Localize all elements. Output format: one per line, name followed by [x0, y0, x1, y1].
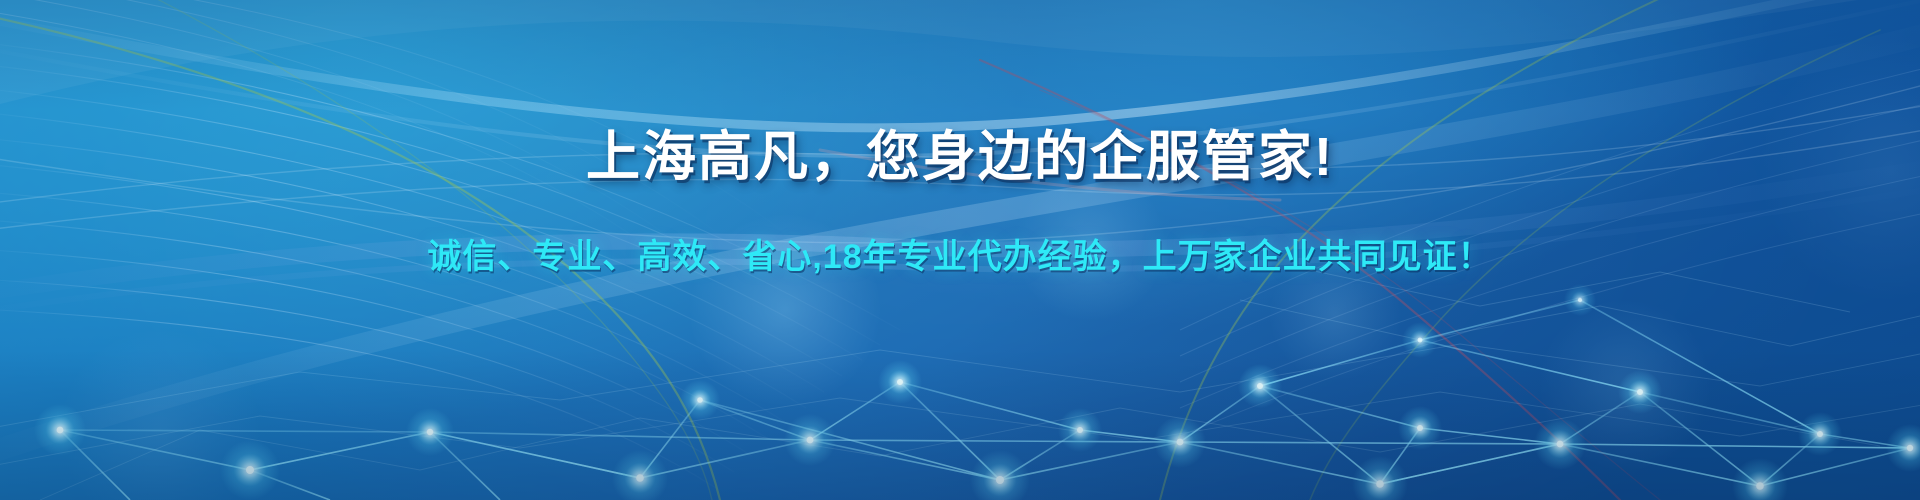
- banner-headline: 上海高凡，您身边的企服管家!: [586, 112, 1334, 191]
- banner-content: 上海高凡，您身边的企服管家! 诚信、专业、高效、省心,18年专业代办经验，上万家…: [0, 0, 1920, 500]
- banner-subtitle: 诚信、专业、高效、省心,18年专业代办经验，上万家企业共同见证！: [427, 229, 1492, 278]
- hero-banner: 上海高凡，您身边的企服管家! 诚信、专业、高效、省心,18年专业代办经验，上万家…: [0, 0, 1920, 500]
